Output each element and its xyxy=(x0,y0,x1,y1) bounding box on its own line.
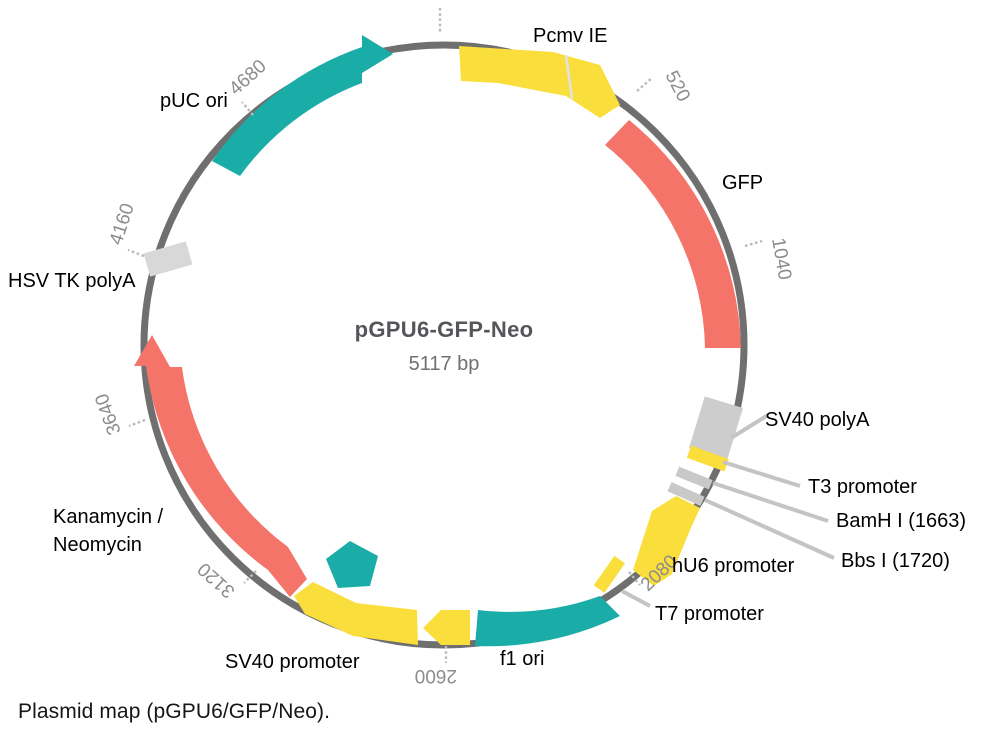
tick-mark-4160 xyxy=(128,250,144,256)
label-sv40-promoter: SV40 promoter xyxy=(225,651,360,673)
feature-hsv-tk-polya-shape xyxy=(144,241,193,276)
label-bbsi: Bbs I (1720) xyxy=(841,550,950,572)
leader-t3-promoter xyxy=(723,462,800,486)
tick-label-2600: 2600 xyxy=(415,665,457,686)
feature-f1-ori-shape xyxy=(475,596,620,646)
leader-bbsi xyxy=(705,500,834,558)
tick-label-4680: 4680 xyxy=(225,56,270,100)
label-puc-ori: pUC ori xyxy=(160,90,228,112)
feature-pcmv-ie-shape xyxy=(459,46,620,118)
label-bamhi: BamH I (1663) xyxy=(836,510,966,532)
plasmid-map-figure: 520 1040 2080 2600 3120 3640 4160 4680 P… xyxy=(0,0,982,744)
label-pcmv-ie: Pcmv IE xyxy=(533,25,607,47)
label-t3-promoter: T3 promoter xyxy=(808,476,917,498)
tick-label-3640: 3640 xyxy=(92,391,126,438)
feature-pentagon-marker xyxy=(326,541,378,588)
label-hsv-tk-polya: HSV TK polyA xyxy=(8,270,136,292)
tick-label-520: 520 xyxy=(661,67,694,105)
leader-t7-promoter xyxy=(622,591,650,606)
tick-label-3120: 3120 xyxy=(194,558,239,602)
tick-mark-520 xyxy=(637,78,652,91)
plasmid-name: pGPU6-GFP-Neo xyxy=(355,317,534,342)
label-gfp: GFP xyxy=(722,172,763,194)
label-kanamycin-line2: Neomycin xyxy=(53,534,142,556)
tick-mark-1040 xyxy=(745,241,762,246)
label-sv40-polya: SV40 polyA xyxy=(765,409,870,431)
label-f1-ori: f1 ori xyxy=(500,648,544,670)
tick-mark-3640 xyxy=(129,420,145,426)
plasmid-map-canvas: 520 1040 2080 2600 3120 3640 4160 4680 P… xyxy=(0,0,982,690)
label-hu6-promoter: hU6 promoter xyxy=(672,555,795,577)
plasmid-size: 5117 bp xyxy=(409,353,480,375)
feature-pcmv-ie xyxy=(459,46,620,118)
feature-bamhi-tick xyxy=(675,467,712,490)
tick-label-1040: 1040 xyxy=(767,236,795,281)
feature-kanamycin-neomycin-shape xyxy=(134,335,307,597)
label-kanamycin-line1: Kanamycin / xyxy=(53,506,163,528)
tick-label-4160: 4160 xyxy=(106,201,139,248)
feature-sv40-promoter-shape xyxy=(294,582,418,645)
feature-small-arrow-shape xyxy=(423,610,470,645)
label-t7-promoter: T7 promoter xyxy=(655,603,764,625)
feature-puc-ori-shape xyxy=(212,35,393,176)
tick-mark-4680 xyxy=(242,102,253,115)
figure-caption: Plasmid map (pGPU6/GFP/Neo). xyxy=(18,700,330,724)
